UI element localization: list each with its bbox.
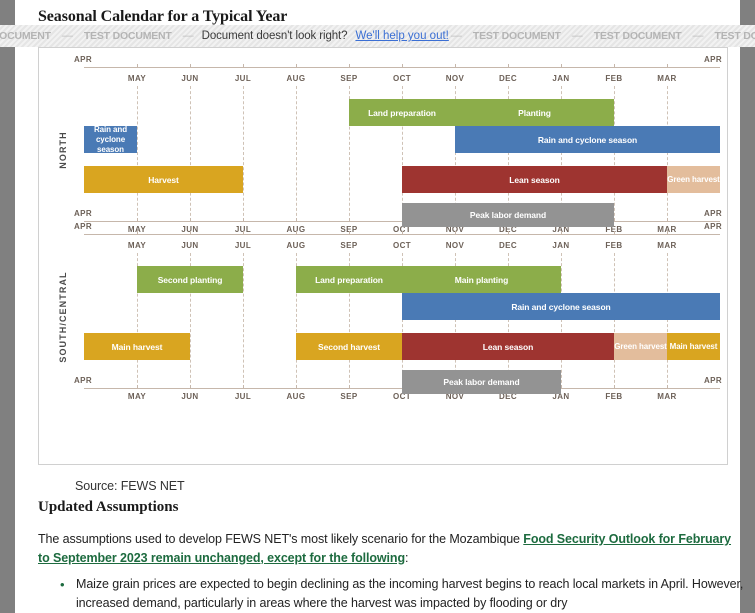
- axis-tick-label-jun: JUN: [181, 241, 198, 250]
- axis-tick-label-jun: JUN: [181, 74, 198, 83]
- paragraph-prefix: The assumptions used to develop FEWS NET…: [38, 532, 523, 546]
- seasonal-calendar-plot: APRAPRMAYJUNJULAUGSEPOCTNOVDECJANFEBMARA…: [39, 48, 727, 393]
- calendar-bar: Peak labor demand: [402, 370, 561, 394]
- calendar-bar: Rain and cyclone season: [84, 126, 137, 153]
- axis-tick-label-jul: JUL: [235, 74, 251, 83]
- axis-tick-label-sep: SEP: [340, 241, 357, 250]
- calendar-bar: Planting: [455, 99, 614, 126]
- axis-tick-label-nov: NOV: [446, 241, 465, 250]
- ribbon-separator: —: [60, 30, 75, 42]
- chart-gridline: [614, 86, 615, 221]
- seasonal-calendar-figure: APRAPRMAYJUNJULAUGSEPOCTNOVDECJANFEBMARA…: [38, 47, 728, 465]
- axis-tick: [614, 231, 615, 235]
- axis-tick: [137, 231, 138, 235]
- axis-tick: [190, 231, 191, 235]
- axis-tick-label-bottom-may: MAY: [128, 392, 146, 401]
- calendar-bar: Second planting: [137, 266, 243, 293]
- axis-tick-bottom: [296, 385, 297, 389]
- axis-tick-label-jan: JAN: [552, 241, 569, 250]
- ribbon-watermark: TEST DOCUMENT: [0, 30, 60, 42]
- chart-gridline: [561, 253, 562, 388]
- axis-tick-label-dec: DEC: [499, 241, 517, 250]
- axis-tick-bottom: [137, 385, 138, 389]
- calendar-bar: Lean season: [402, 166, 667, 193]
- axis-tick-bottom: [667, 385, 668, 389]
- ribbon-separator: —: [181, 30, 196, 42]
- calendar-bar: Main harvest: [667, 333, 720, 360]
- axis-tick-bottom: [614, 218, 615, 222]
- chart-gridline: [667, 86, 668, 221]
- axis-tick-bottom: [614, 385, 615, 389]
- axis-tick: [667, 64, 668, 68]
- axis-tick-label-sep: SEP: [340, 74, 357, 83]
- axis-tick: [349, 231, 350, 235]
- ribbon-separator: —: [570, 30, 585, 42]
- chart-gridline: [243, 86, 244, 221]
- chart-gridline: [137, 86, 138, 221]
- calendar-bar: Second harvest: [296, 333, 402, 360]
- chart-gridline: [667, 253, 668, 388]
- calendar-bar: Green harvest: [667, 166, 720, 193]
- ribbon-watermark: TEST DOCUMENT: [585, 30, 691, 42]
- axis-tick: [561, 231, 562, 235]
- axis-tick-bottom: [190, 218, 191, 222]
- axis-tick-label-bottom-feb: FEB: [605, 392, 622, 401]
- axis-label-apr-start-bottom: APR: [74, 376, 92, 385]
- axis-tick-label-may: MAY: [128, 74, 146, 83]
- axis-tick: [402, 231, 403, 235]
- axis-label-apr-start-bottom: APR: [74, 209, 92, 218]
- axis-tick-label-mar: MAR: [657, 74, 676, 83]
- axis-tick: [402, 64, 403, 68]
- axis-tick: [137, 64, 138, 68]
- bullet-dot-icon: •: [60, 576, 64, 595]
- chart-gridline: [243, 253, 244, 388]
- axis-tick-label-jul: JUL: [235, 241, 251, 250]
- axis-tick-label-may: MAY: [128, 241, 146, 250]
- calendar-bar: Rain and cyclone season: [402, 293, 720, 320]
- chart-gridline: [190, 86, 191, 221]
- axis-label-apr-end: APR: [704, 222, 722, 231]
- axis-tick: [561, 64, 562, 68]
- list-item: • Maize grain prices are expected to beg…: [76, 575, 755, 612]
- ribbon-message: Document doesn't look right?: [196, 30, 354, 42]
- axis-tick: [190, 64, 191, 68]
- axis-tick-bottom: [667, 218, 668, 222]
- axis-tick-bottom: [296, 218, 297, 222]
- figure-source: Source: FEWS NET: [75, 479, 185, 493]
- test-document-ribbon: TEST DOCUMENT—TEST DOCUMENT—Document doe…: [0, 25, 755, 47]
- axis-tick: [243, 231, 244, 235]
- assumptions-bullet-list: • Maize grain prices are expected to beg…: [38, 575, 755, 612]
- axis-tick-label-mar: MAR: [657, 241, 676, 250]
- region-label-south-central: SOUTH/CENTRAL: [58, 267, 68, 367]
- axis-tick-label-feb: FEB: [605, 241, 622, 250]
- axis-tick: [667, 231, 668, 235]
- ribbon-watermark: TEST DOCUMENT: [464, 30, 570, 42]
- axis-tick: [296, 64, 297, 68]
- axis-tick: [243, 64, 244, 68]
- axis-tick-label-aug: AUG: [287, 241, 306, 250]
- ribbon-separator: —: [449, 30, 464, 42]
- section-heading-updated-assumptions: Updated Assumptions: [38, 499, 178, 516]
- axis-tick-label-bottom-jul: JUL: [235, 392, 251, 401]
- axis-tick-label-jan: JAN: [552, 74, 569, 83]
- axis-tick: [508, 64, 509, 68]
- calendar-bar: Main planting: [402, 266, 561, 293]
- axis-tick: [349, 64, 350, 68]
- axis-tick: [296, 231, 297, 235]
- axis-tick-bottom: [137, 218, 138, 222]
- axis-tick-label-bottom-mar: MAR: [657, 392, 676, 401]
- ribbon-watermark: TEST DOCUMENT: [706, 30, 755, 42]
- ribbon-watermark: TEST DOCUMENT: [75, 30, 181, 42]
- ribbon-track: TEST DOCUMENT—TEST DOCUMENT—Document doe…: [0, 30, 755, 42]
- axis-tick: [508, 231, 509, 235]
- axis-tick-label-dec: DEC: [499, 74, 517, 83]
- chart-gridline: [296, 86, 297, 221]
- axis-tick-bottom: [243, 385, 244, 389]
- assumptions-paragraph: The assumptions used to develop FEWS NET…: [38, 530, 738, 567]
- axis-tick-label-nov: NOV: [446, 74, 465, 83]
- axis-tick: [614, 64, 615, 68]
- axis-tick-bottom: [349, 385, 350, 389]
- figure-title: Seasonal Calendar for a Typical Year: [38, 8, 728, 26]
- document-page: Seasonal Calendar for a Typical Year APR…: [15, 0, 740, 613]
- axis-tick-bottom: [243, 218, 244, 222]
- axis-tick-label-bottom-sep: SEP: [340, 392, 357, 401]
- axis-tick-label-oct: OCT: [393, 74, 411, 83]
- axis-tick-label-aug: AUG: [287, 74, 306, 83]
- axis-label-apr-start: APR: [74, 55, 92, 64]
- axis-tick-label-feb: FEB: [605, 74, 622, 83]
- axis-label-apr-end-bottom: APR: [704, 209, 722, 218]
- list-item-text: Maize grain prices are expected to begin…: [76, 577, 743, 610]
- axis-tick-label-bottom-jun: JUN: [181, 392, 198, 401]
- axis-tick: [455, 231, 456, 235]
- axis-label-apr-start: APR: [74, 222, 92, 231]
- axis-tick-bottom: [190, 385, 191, 389]
- calendar-bar: Land preparation: [349, 99, 455, 126]
- paragraph-suffix: :: [405, 551, 408, 565]
- axis-tick-bottom: [561, 385, 562, 389]
- calendar-bar: Lean season: [402, 333, 614, 360]
- calendar-bar: Main harvest: [84, 333, 190, 360]
- calendar-bar: Green harvest: [614, 333, 667, 360]
- chart-gridline: [614, 253, 615, 388]
- calendar-bar: Harvest: [84, 166, 243, 193]
- ribbon-separator: —: [691, 30, 706, 42]
- axis-tick-label-bottom-aug: AUG: [287, 392, 306, 401]
- ribbon-help-link[interactable]: We'll help you out!: [353, 30, 448, 42]
- axis-tick: [455, 64, 456, 68]
- calendar-bar: Rain and cyclone season: [455, 126, 720, 153]
- calendar-bar: Peak labor demand: [402, 203, 614, 227]
- axis-label-apr-end: APR: [704, 55, 722, 64]
- axis-label-apr-end-bottom: APR: [704, 376, 722, 385]
- region-label-north: NORTH: [58, 100, 68, 200]
- axis-tick-bottom: [349, 218, 350, 222]
- axis-tick-label-oct: OCT: [393, 241, 411, 250]
- calendar-bar: Land preparation: [296, 266, 402, 293]
